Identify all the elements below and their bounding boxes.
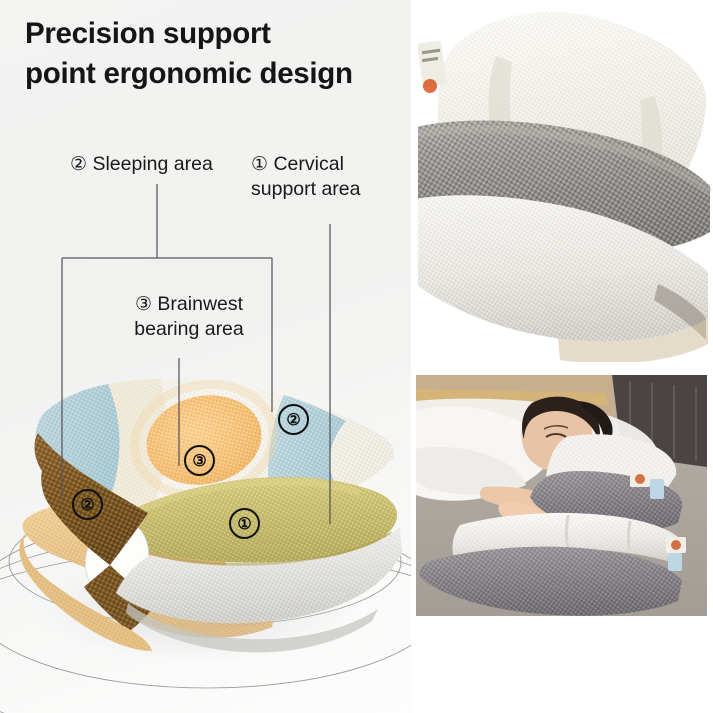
callout-marker-2: ② bbox=[70, 154, 87, 175]
pillow-lifestyle-photo bbox=[416, 375, 707, 616]
lifestyle-photo-art bbox=[416, 375, 707, 616]
zone-badge-cervical: ① bbox=[229, 508, 260, 539]
product-photo-art bbox=[418, 0, 713, 362]
callout-label-sleeping-area: ② Sleeping area bbox=[70, 152, 213, 177]
page-title: Precision support point ergonomic design bbox=[25, 14, 411, 94]
diagram-panel: Precision support point ergonomic design… bbox=[0, 0, 411, 713]
callout-marker-3: ③ bbox=[135, 294, 152, 315]
zone-badge-brainwest: ③ bbox=[184, 445, 215, 476]
callout-label-cervical-support-area: ① Cervical support area bbox=[251, 152, 391, 202]
zone-badge-sleeping-right: ② bbox=[278, 404, 309, 435]
callout-label-brainwest-bearing-area: ③ Brainwest bearing area bbox=[104, 292, 274, 342]
infographic-root: Precision support point ergonomic design… bbox=[0, 0, 713, 713]
callout-text-sleeping-area: Sleeping area bbox=[92, 153, 212, 175]
zone-badge-sleeping-left: ② bbox=[72, 489, 103, 520]
callout-connector-lines bbox=[0, 0, 411, 713]
pillow-product-photo bbox=[418, 0, 713, 362]
callout-text-cervical-support-area: Cervical support area bbox=[251, 153, 361, 200]
callout-marker-1: ① bbox=[251, 154, 268, 175]
